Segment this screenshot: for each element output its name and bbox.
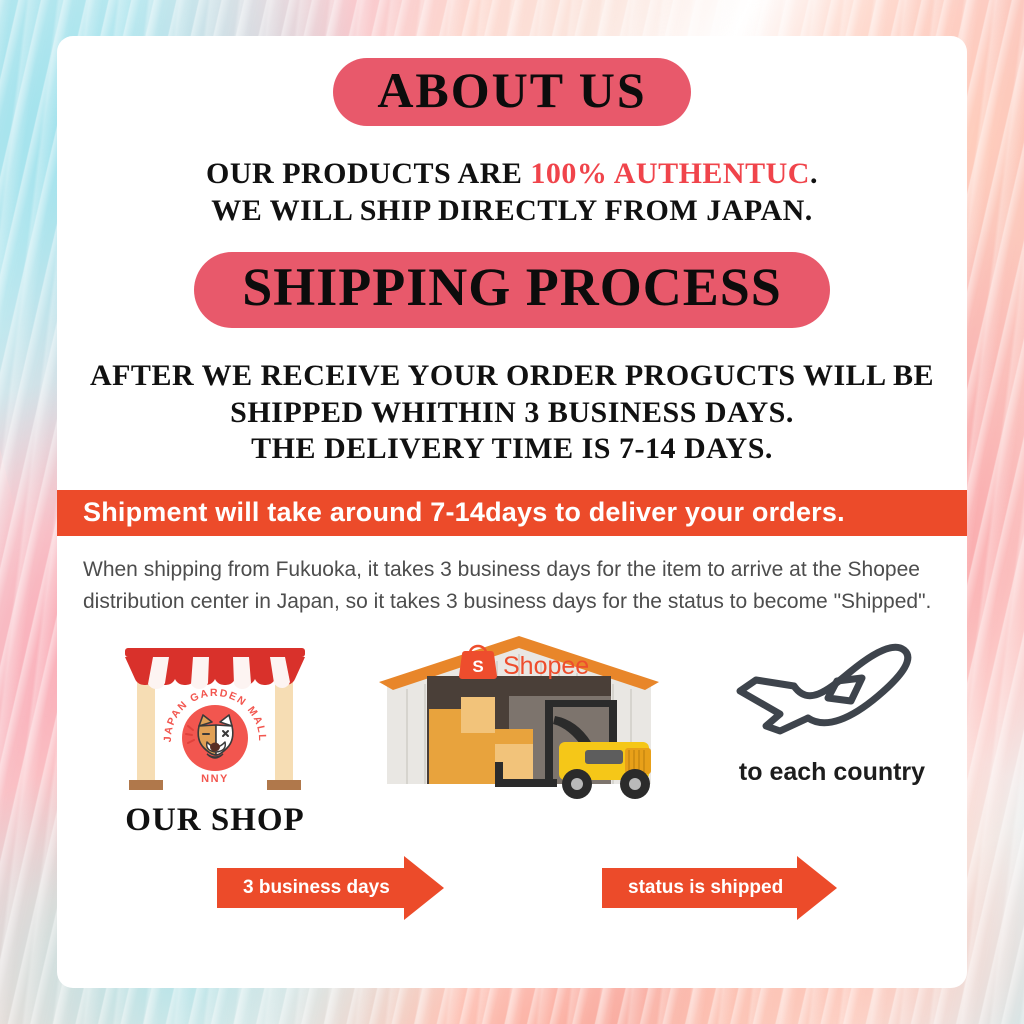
intro-highlight: 100% AUTHENTUC — [530, 157, 810, 190]
process-line-1: AFTER WE RECEIVE YOUR ORDER PROGUCTS WIL… — [71, 358, 953, 395]
intro-suffix: . — [810, 157, 818, 190]
shipping-process-heading-row: SHIPPING PROCESS — [57, 230, 967, 328]
shipment-banner: Shipment will take around 7-14days to de… — [57, 490, 967, 536]
shop-base-left — [129, 780, 163, 790]
arrow-row: 3 business days status is shipped — [57, 840, 967, 932]
arrow-1-tip — [404, 856, 444, 920]
shop-base-right — [267, 780, 301, 790]
process-text: AFTER WE RECEIVE YOUR ORDER PROGUCTS WIL… — [57, 358, 967, 468]
warehouse-illustration: S Shopee — [369, 634, 669, 804]
plane-label: to each country — [687, 758, 967, 787]
arrow-3-business-days: 3 business days — [217, 856, 444, 920]
shop-label: OUR SHOP — [95, 802, 335, 839]
process-line-2: SHIPPED WHITHIN 3 BUSINESS DAYS. — [71, 395, 953, 432]
intro-line-1: OUR PRODUCTS ARE 100% AUTHENTUC. — [57, 156, 967, 193]
about-us-heading: ABOUT US — [333, 58, 690, 126]
arrow-2-label: status is shipped — [602, 868, 797, 908]
shipping-process-heading: SHIPPING PROCESS — [194, 252, 830, 328]
intro-prefix: OUR PRODUCTS ARE — [206, 157, 530, 190]
logo-bottom-text: NNY — [201, 773, 229, 785]
shop-awning — [125, 648, 305, 689]
illustration-row: JAPAN GARDEN MALL NNY — [57, 630, 967, 840]
arrow-1-label: 3 business days — [217, 868, 404, 908]
content-card: ABOUT US OUR PRODUCTS ARE 100% AUTHENTUC… — [57, 36, 967, 988]
shipping-explanation-paragraph: When shipping from Fukuoka, it takes 3 b… — [83, 554, 939, 618]
shopee-brand-mark: S Shopee — [459, 646, 589, 680]
shopee-s-glyph: S — [472, 657, 483, 676]
poster-canvas: ABOUT US OUR PRODUCTS ARE 100% AUTHENTUC… — [0, 0, 1024, 1024]
shop-illustration: JAPAN GARDEN MALL NNY — [115, 630, 315, 800]
shopee-wordmark: Shopee — [503, 652, 589, 680]
arrow-status-is-shipped: status is shipped — [602, 856, 837, 920]
process-line-3: THE DELIVERY TIME IS 7-14 DAYS. — [71, 431, 953, 468]
intro-text: OUR PRODUCTS ARE 100% AUTHENTUC. WE WILL… — [57, 156, 967, 230]
intro-line-2: WE WILL SHIP DIRECTLY FROM JAPAN. — [57, 193, 967, 230]
arrow-2-tip — [797, 856, 837, 920]
about-us-heading-row: ABOUT US — [57, 36, 967, 126]
airplane-icon — [722, 634, 937, 759]
shop-logo-badge: JAPAN GARDEN MALL NNY — [162, 687, 268, 785]
